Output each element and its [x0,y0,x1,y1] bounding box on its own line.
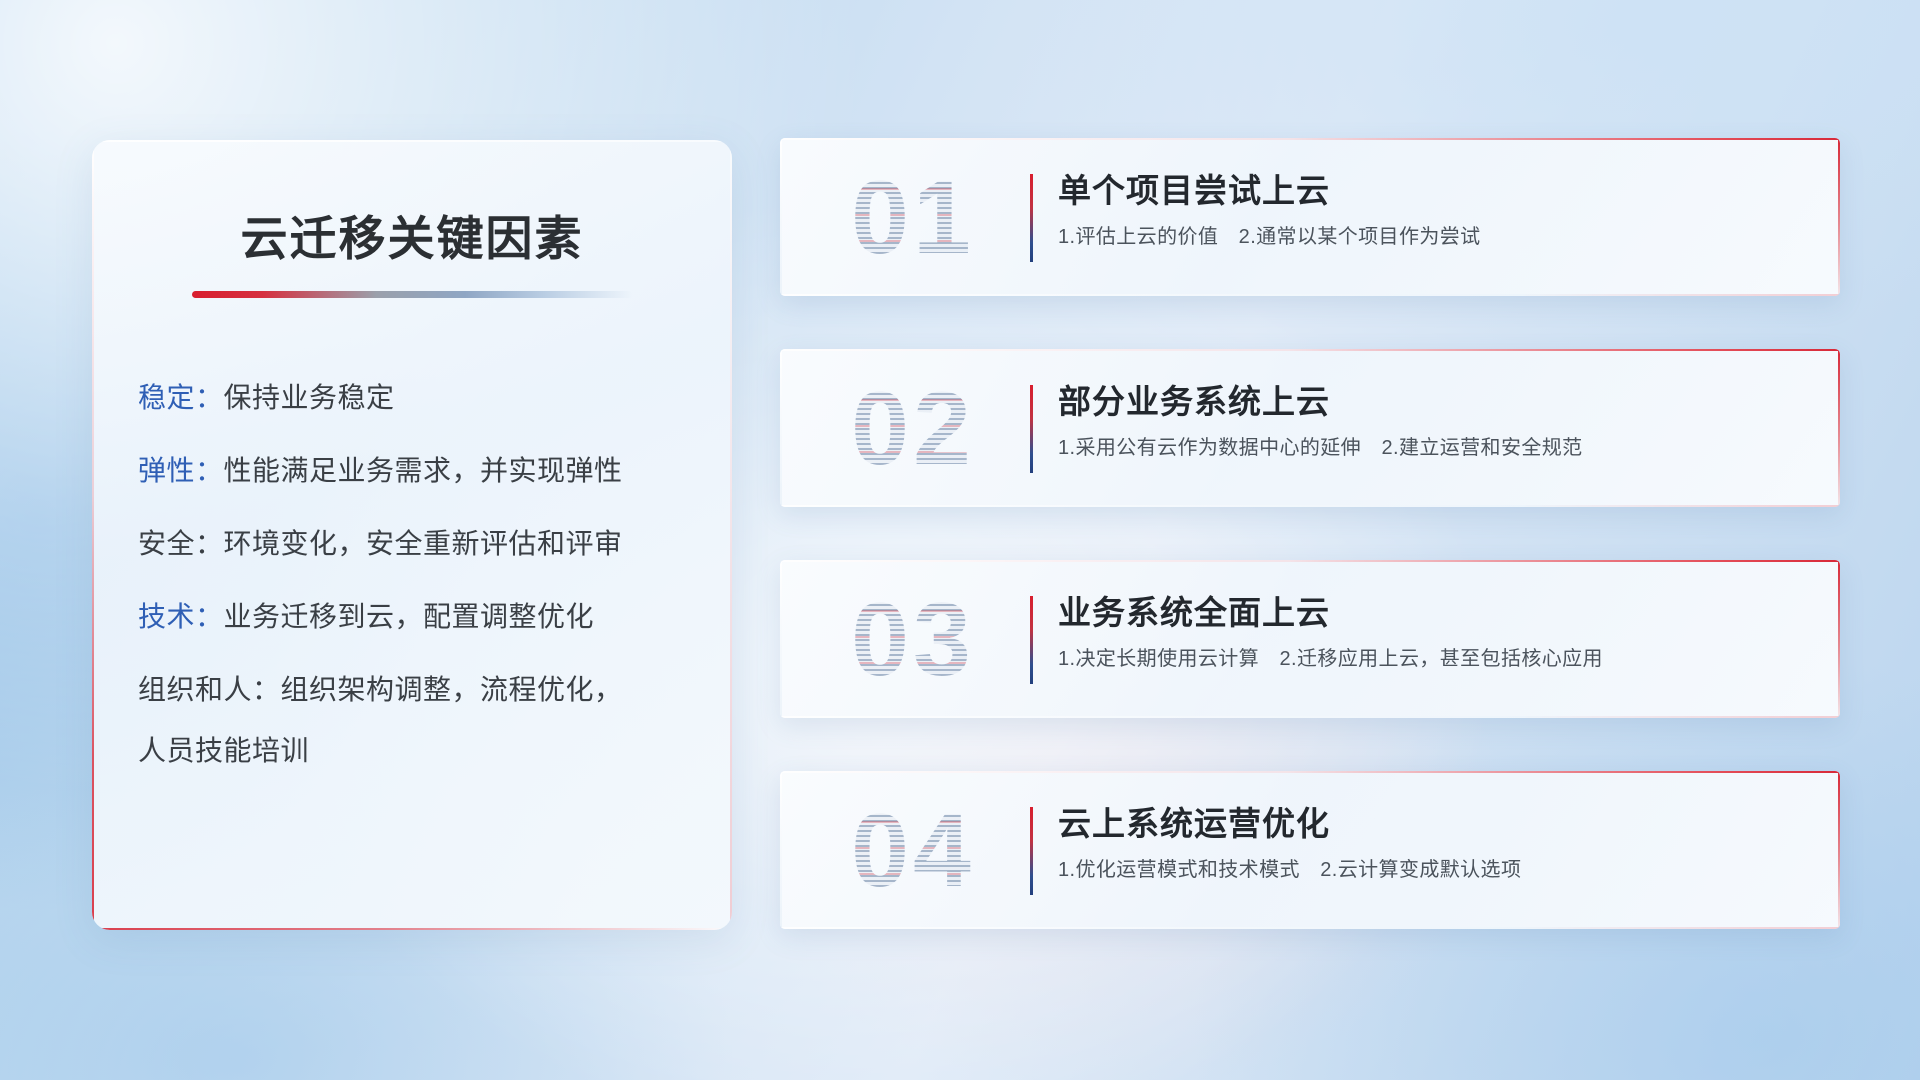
card-description: 1.决定长期使用云计算 2.迁移应用上云，甚至包括核心应用 [1058,647,1800,671]
card-body: 云上系统运营优化 1.优化运营模式和技术模式 2.云计算变成默认选项 [1058,805,1800,882]
list-item: 安全：环境变化，安全重新评估和评审 [138,530,732,558]
card-body: 部分业务系统上云 1.采用公有云作为数据中心的延伸 2.建立运营和安全规范 [1058,383,1800,460]
factor-value: 人员技能培训 [138,735,309,766]
card-accent-divider [1030,385,1033,473]
factor-value: 组织架构调整，流程优化， [281,674,623,705]
card-title: 云上系统运营优化 [1058,805,1800,843]
factor-label: 组织和人： [138,674,281,705]
card-edge-bottom [780,294,1840,296]
card-description: 1.评估上云的价值 2.通常以某个项目作为尝试 [1058,225,1800,249]
list-item: 组织和人：组织架构调整，流程优化， [138,676,732,704]
stage-number-accent: 01 [808,162,1018,274]
card-edge-left [780,560,782,718]
panel-edge-top [92,140,732,142]
card-edge-right [1838,349,1840,507]
card-title: 单个项目尝试上云 [1058,172,1800,210]
card-description: 1.优化运营模式和技术模式 2.云计算变成默认选项 [1058,858,1800,882]
card-edge-bottom [780,716,1840,718]
card-title: 部分业务系统上云 [1058,383,1800,421]
factor-label: 弹性： [138,455,224,486]
panel-edge-left [92,140,94,930]
panel-edge-bottom [92,928,732,930]
list-item-continuation: 人员技能培训 [138,737,732,765]
stage-card-list: 01 01 01 单个项目尝试上云 1.评估上云的价值 2.通常以某个项目作为尝… [780,138,1840,982]
card-body: 单个项目尝试上云 1.评估上云的价值 2.通常以某个项目作为尝试 [1058,172,1800,249]
card-edge-top [780,138,1840,140]
list-item: 技术：业务迁移到云，配置调整优化 [138,603,732,631]
factor-label: 安全： [138,528,224,559]
card-edge-bottom [780,927,1840,929]
card-edge-top [780,560,1840,562]
card-edge-top [780,349,1840,351]
card-edge-right [1838,560,1840,718]
card-accent-divider [1030,596,1033,684]
page-title: 云迁移关键因素 [92,200,732,269]
factor-value: 性能满足业务需求，并实现弹性 [224,455,623,486]
list-item: 弹性：性能满足业务需求，并实现弹性 [138,457,732,485]
stage-card[interactable]: 02 02 02 部分业务系统上云 1.采用公有云作为数据中心的延伸 2.建立运… [780,349,1840,507]
stage-card[interactable]: 03 03 03 业务系统全面上云 1.决定长期使用云计算 2.迁移应用上云，甚… [780,560,1840,718]
stage-number-accent: 04 [808,795,1018,907]
card-description: 1.采用公有云作为数据中心的延伸 2.建立运营和安全规范 [1058,436,1800,460]
factor-value: 环境变化，安全重新评估和评审 [224,528,623,559]
card-edge-left [780,349,782,507]
factor-value: 保持业务稳定 [224,382,395,413]
key-factors-panel: 云迁移关键因素 稳定：保持业务稳定 弹性：性能满足业务需求，并实现弹性 安全：环… [92,140,732,930]
card-edge-top [780,771,1840,773]
card-edge-bottom [780,505,1840,507]
card-accent-divider [1030,174,1033,262]
card-body: 业务系统全面上云 1.决定长期使用云计算 2.迁移应用上云，甚至包括核心应用 [1058,594,1800,671]
panel-edge-right [730,140,732,930]
factor-label: 技术： [138,601,224,632]
card-title: 业务系统全面上云 [1058,594,1800,632]
stage-card[interactable]: 01 01 01 单个项目尝试上云 1.评估上云的价值 2.通常以某个项目作为尝… [780,138,1840,296]
title-underline-rule [192,291,632,298]
stage-number-accent: 03 [808,584,1018,696]
list-item: 稳定：保持业务稳定 [138,384,732,412]
card-edge-right [1838,138,1840,296]
card-edge-right [1838,771,1840,929]
factor-value: 业务迁移到云，配置调整优化 [224,601,595,632]
factor-label: 稳定： [138,382,224,413]
stage-number-accent: 02 [808,373,1018,485]
card-accent-divider [1030,807,1033,895]
factor-list: 稳定：保持业务稳定 弹性：性能满足业务需求，并实现弹性 安全：环境变化，安全重新… [92,384,732,765]
card-edge-left [780,138,782,296]
stage-card[interactable]: 04 04 04 云上系统运营优化 1.优化运营模式和技术模式 2.云计算变成默… [780,771,1840,929]
card-edge-left [780,771,782,929]
